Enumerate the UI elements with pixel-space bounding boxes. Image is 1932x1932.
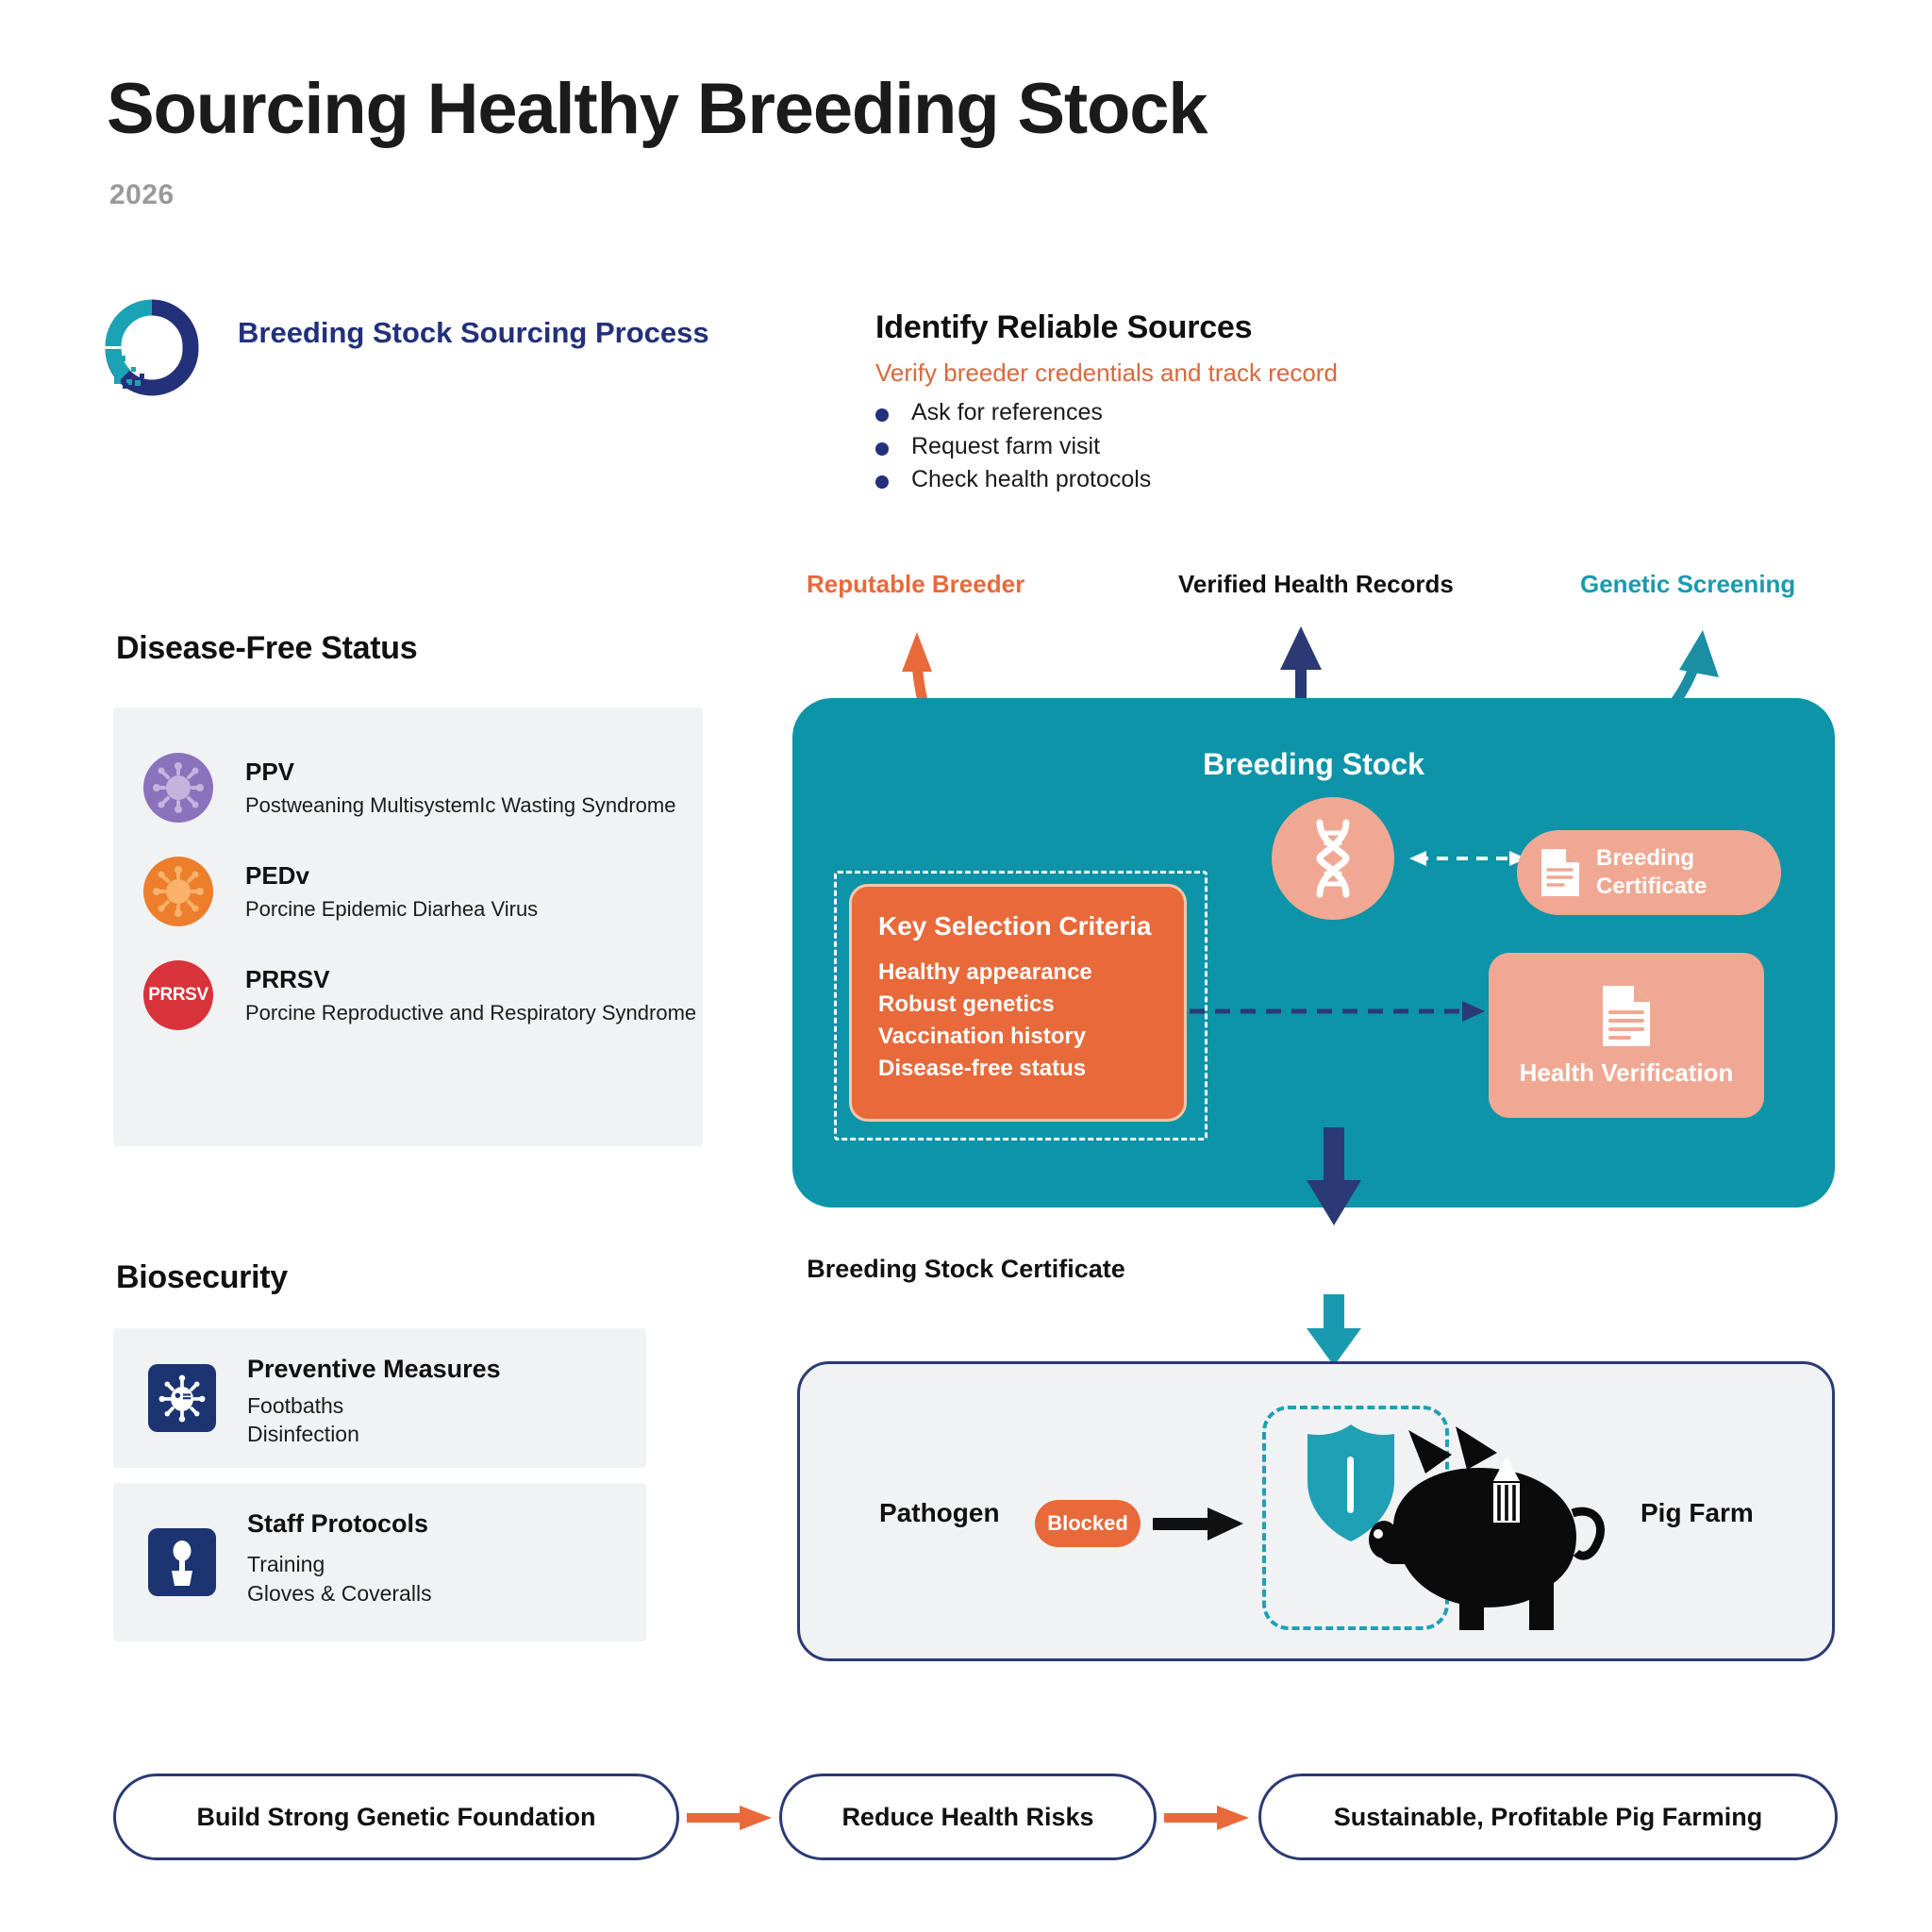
bullet-icon — [875, 442, 889, 456]
outcome-step-1[interactable]: Build Strong Genetic Foundation — [113, 1774, 679, 1860]
arrow-pathogen-blocked — [1153, 1506, 1257, 1543]
pathogen-label: Pathogen — [879, 1498, 1000, 1528]
criteria-item: Vaccination history — [878, 1021, 1184, 1053]
list-item: Check health protocols — [875, 463, 1151, 497]
biosecurity-card-line1: Training — [247, 1551, 325, 1579]
virus-icon — [143, 857, 213, 926]
arrow-outcome-1-2 — [687, 1806, 777, 1830]
criteria-item: Healthy appearance — [878, 957, 1184, 989]
outcome-step-label: Reduce Health Risks — [841, 1803, 1093, 1832]
germ-icon — [148, 1364, 216, 1432]
infographic-page: Sourcing Healthy Breeding Stock 2026 Bre… — [0, 0, 1932, 1932]
health-verification-card: Health Verification — [1489, 953, 1764, 1118]
list-item-label: Request farm visit — [911, 433, 1100, 459]
virus-icon: PRRSV — [143, 960, 213, 1030]
key-selection-criteria-card: Key Selection Criteria Healthy appearanc… — [849, 884, 1187, 1122]
disease-free-heading: Disease-Free Status — [116, 630, 417, 667]
worker-icon — [148, 1528, 216, 1596]
list-item: Ask for references — [875, 396, 1151, 430]
biosecurity-card-preventive: Preventive Measures Footbaths Disinfecti… — [113, 1328, 646, 1468]
disease-abbr: PEDv — [245, 861, 538, 891]
bullet-icon — [875, 475, 889, 489]
arrow-outcome-2-3 — [1164, 1806, 1255, 1830]
list-item-label: Ask for references — [911, 399, 1103, 425]
document-icon — [1600, 983, 1653, 1049]
arrowhead-verified-health-records — [1280, 626, 1322, 670]
biosecurity-card-line2: Gloves & Coveralls — [247, 1580, 432, 1608]
disease-name: Postweaning MultisystemIc Wasting Syndro… — [245, 793, 675, 818]
bullet-icon — [875, 408, 889, 422]
list-item-label: Check health protocols — [911, 466, 1151, 492]
ring-logo-icon — [106, 300, 198, 394]
arrow-breeding-stock-down — [1278, 1127, 1391, 1231]
outcome-step-label: Sustainable, Profitable Pig Farming — [1334, 1803, 1763, 1832]
biosecurity-card-staff: Staff Protocols Training Gloves & Covera… — [113, 1483, 646, 1641]
outcome-step-label: Build Strong Genetic Foundation — [197, 1803, 596, 1832]
identify-sources-heading: Identify Reliable Sources — [875, 309, 1252, 346]
breeding-stock-certificate-label: Breeding Stock Certificate — [0, 1255, 1932, 1284]
document-icon — [1540, 847, 1581, 898]
biosecurity-card-title: Staff Protocols — [247, 1509, 428, 1539]
health-verification-label: Health Verification — [1520, 1058, 1734, 1088]
outcome-step-3[interactable]: Sustainable, Profitable Pig Farming — [1258, 1774, 1838, 1860]
biosecurity-card-line1: Footbaths — [247, 1392, 343, 1421]
breeding-certificate-label: Breeding Certificate — [1596, 844, 1781, 901]
arrowhead-genetic-screening — [1679, 630, 1719, 677]
list-item: PRRSV PRRSV Porcine Reproductive and Res… — [143, 960, 696, 1030]
page-year: 2026 — [109, 179, 175, 211]
dna-icon — [1272, 797, 1394, 920]
list-item: PEDv Porcine Epidemic Diarhea Virus — [143, 857, 538, 926]
biosecurity-card-line2: Disinfection — [247, 1421, 359, 1449]
outcome-step-2[interactable]: Reduce Health Risks — [779, 1774, 1157, 1860]
breeding-certificate-card: Breeding Certificate — [1517, 830, 1781, 915]
arrowhead-reputable-breeder — [902, 632, 932, 672]
identify-sources-subheading: Verify breeder credentials and track rec… — [875, 358, 1338, 388]
criteria-item: Disease-free status — [878, 1053, 1184, 1085]
list-item: PPV Postweaning MultisystemIc Wasting Sy… — [143, 753, 675, 823]
breeding-stock-title: Breeding Stock — [792, 747, 1835, 782]
criteria-heading: Key Selection Criteria — [878, 911, 1184, 941]
arrow-certificate-to-farm — [1278, 1294, 1391, 1370]
identify-sources-list: Ask for references Request farm visit Ch… — [875, 396, 1151, 497]
virus-icon — [143, 753, 213, 823]
blocked-badge: Blocked — [1035, 1500, 1141, 1547]
list-item: Request farm visit — [875, 430, 1151, 464]
disease-badge: PRRSV — [148, 985, 208, 1006]
disease-free-panel: PPV Postweaning MultisystemIc Wasting Sy… — [113, 708, 703, 1146]
page-title: Sourcing Healthy Breeding Stock — [107, 74, 1207, 145]
biosecurity-card-title: Preventive Measures — [247, 1355, 501, 1384]
logo-label: Breeding Stock Sourcing Process — [238, 313, 728, 353]
disease-name: Porcine Reproductive and Respiratory Syn… — [245, 1001, 696, 1025]
disease-abbr: PRRSV — [245, 965, 696, 994]
disease-abbr: PPV — [245, 758, 675, 787]
criteria-item: Robust genetics — [878, 989, 1184, 1021]
pig-farm-label: Pig Farm — [1641, 1498, 1754, 1528]
disease-name: Porcine Epidemic Diarhea Virus — [245, 897, 538, 922]
pig-icon — [1335, 1415, 1608, 1651]
